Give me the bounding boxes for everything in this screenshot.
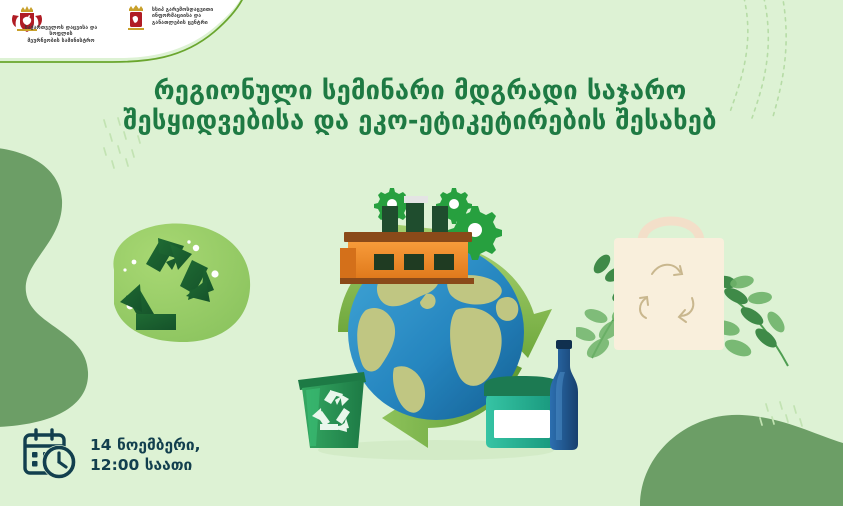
jar-lid	[484, 376, 560, 396]
bag-body	[614, 238, 724, 350]
crest-crown	[21, 6, 33, 12]
illustration-tote-bag	[576, 198, 811, 383]
emblem-crown	[129, 5, 143, 11]
bottle-icon	[550, 340, 578, 450]
factory-base	[340, 278, 474, 284]
bottle-cap	[556, 340, 572, 349]
factory-windows	[374, 254, 454, 270]
header-logos: საქართველოს დაცვისა და სოფლის მეურნეობის…	[0, 0, 300, 56]
factory-left-block	[340, 248, 356, 278]
recycle-bin-icon	[298, 372, 366, 448]
calendar-clock-icon	[22, 428, 80, 482]
title-line-1: რეგიონული სემინარი მდგრადი საჯარო	[70, 76, 770, 106]
logo-environmental-information-and-education-centre: სსიპ გარემოსდაცვითი ინფორმაციისა და განა…	[125, 5, 238, 33]
illustration-recycling-symbol	[92, 218, 267, 363]
title-line-2: შესყიდვებისა და ეკო-ეტიკეტირების შესახებ	[70, 106, 770, 136]
logo-eiec-label: სსიპ გარემოსდაცვითი ინფორმაციისა და განა…	[152, 7, 238, 26]
logo-ministry-label: საქართველოს დაცვისა და სოფლის მეურნეობის…	[13, 25, 109, 44]
jar-icon	[484, 376, 560, 448]
factory-roof	[344, 232, 472, 242]
emblem-base	[128, 28, 144, 30]
date-time-block: 14 ნოემბერი, 12:00 საათი	[22, 428, 201, 482]
logo-ministry-of-environmental-protection-and-agriculture: საქართველოს დაცვისა და სოფლის მეურნეობის…	[10, 5, 109, 44]
page-title: რეგიონული სემინარი მდგრადი საჯარო შესყიდ…	[70, 76, 770, 136]
date-time-label: 14 ნოემბერი, 12:00 საათი	[90, 435, 201, 475]
poster-canvas: საქართველოს დაცვისა და სოფლის მეურნეობის…	[0, 0, 843, 506]
jar-label	[494, 410, 550, 438]
eiec-emblem-icon	[125, 5, 147, 33]
illustration-globe-cycle	[286, 182, 586, 467]
